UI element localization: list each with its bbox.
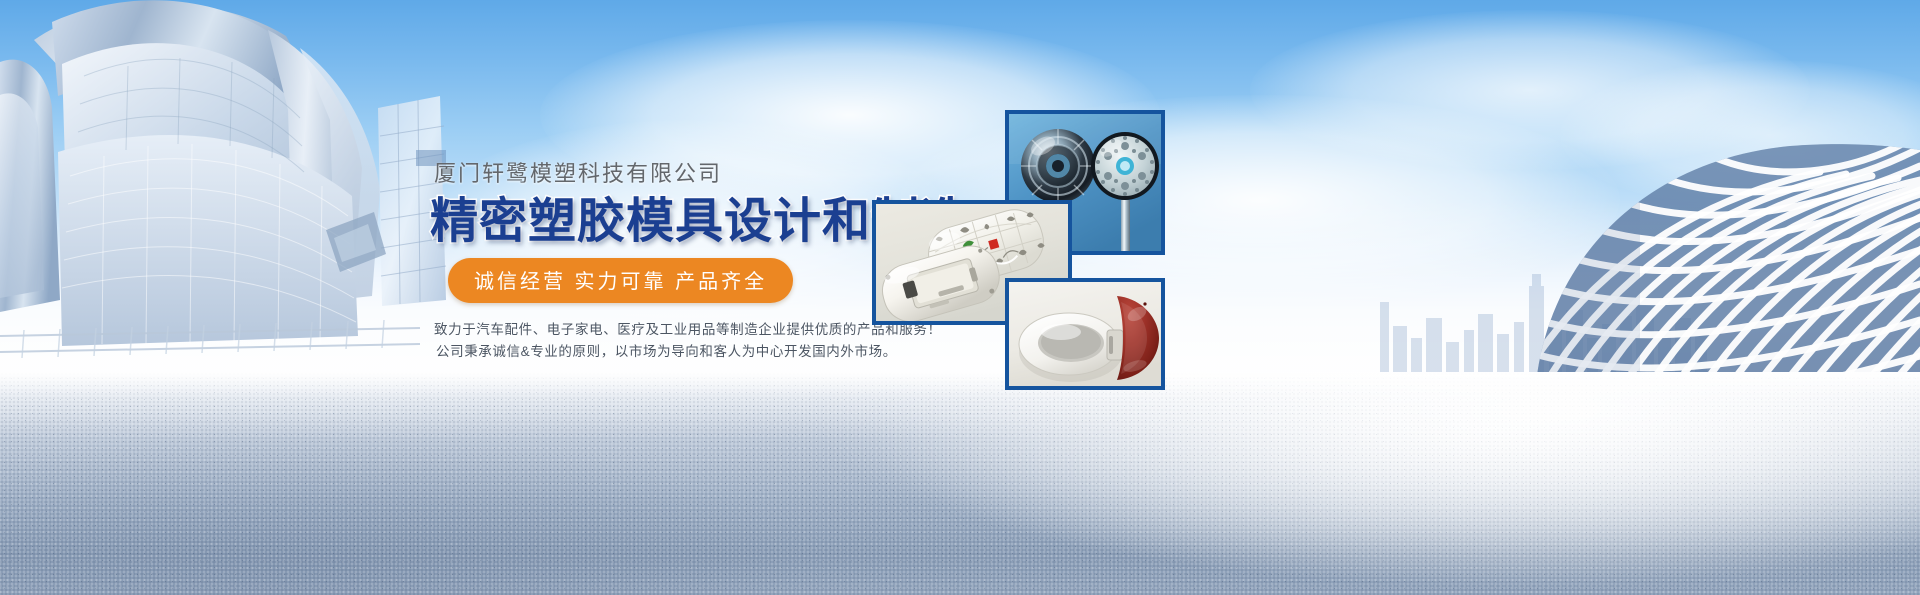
lattice-dome-architecture-right: [1490, 88, 1920, 418]
product-photo-toilet-seat: [1005, 278, 1165, 390]
slogan-badge: 诚信经营 实力可靠 产品齐全: [448, 258, 793, 303]
metallic-architecture-left: [0, 0, 470, 400]
description-block: 致力于汽车配件、电子家电、医疗及工业用品等制造企业提供优质的产品和服务！ 公司秉…: [430, 319, 990, 363]
description-line-2: 公司秉承诚信&专业的原则，以市场为导向和客人为中心开发国内外市场。: [434, 341, 990, 363]
asphalt-ground: [0, 372, 1920, 595]
company-name: 厦门轩鹭模塑科技有限公司: [430, 160, 990, 189]
hero-banner: 厦门轩鹭模塑科技有限公司 精密塑胶模具设计和制造 诚信经营 实力可靠 产品齐全 …: [0, 0, 1920, 595]
